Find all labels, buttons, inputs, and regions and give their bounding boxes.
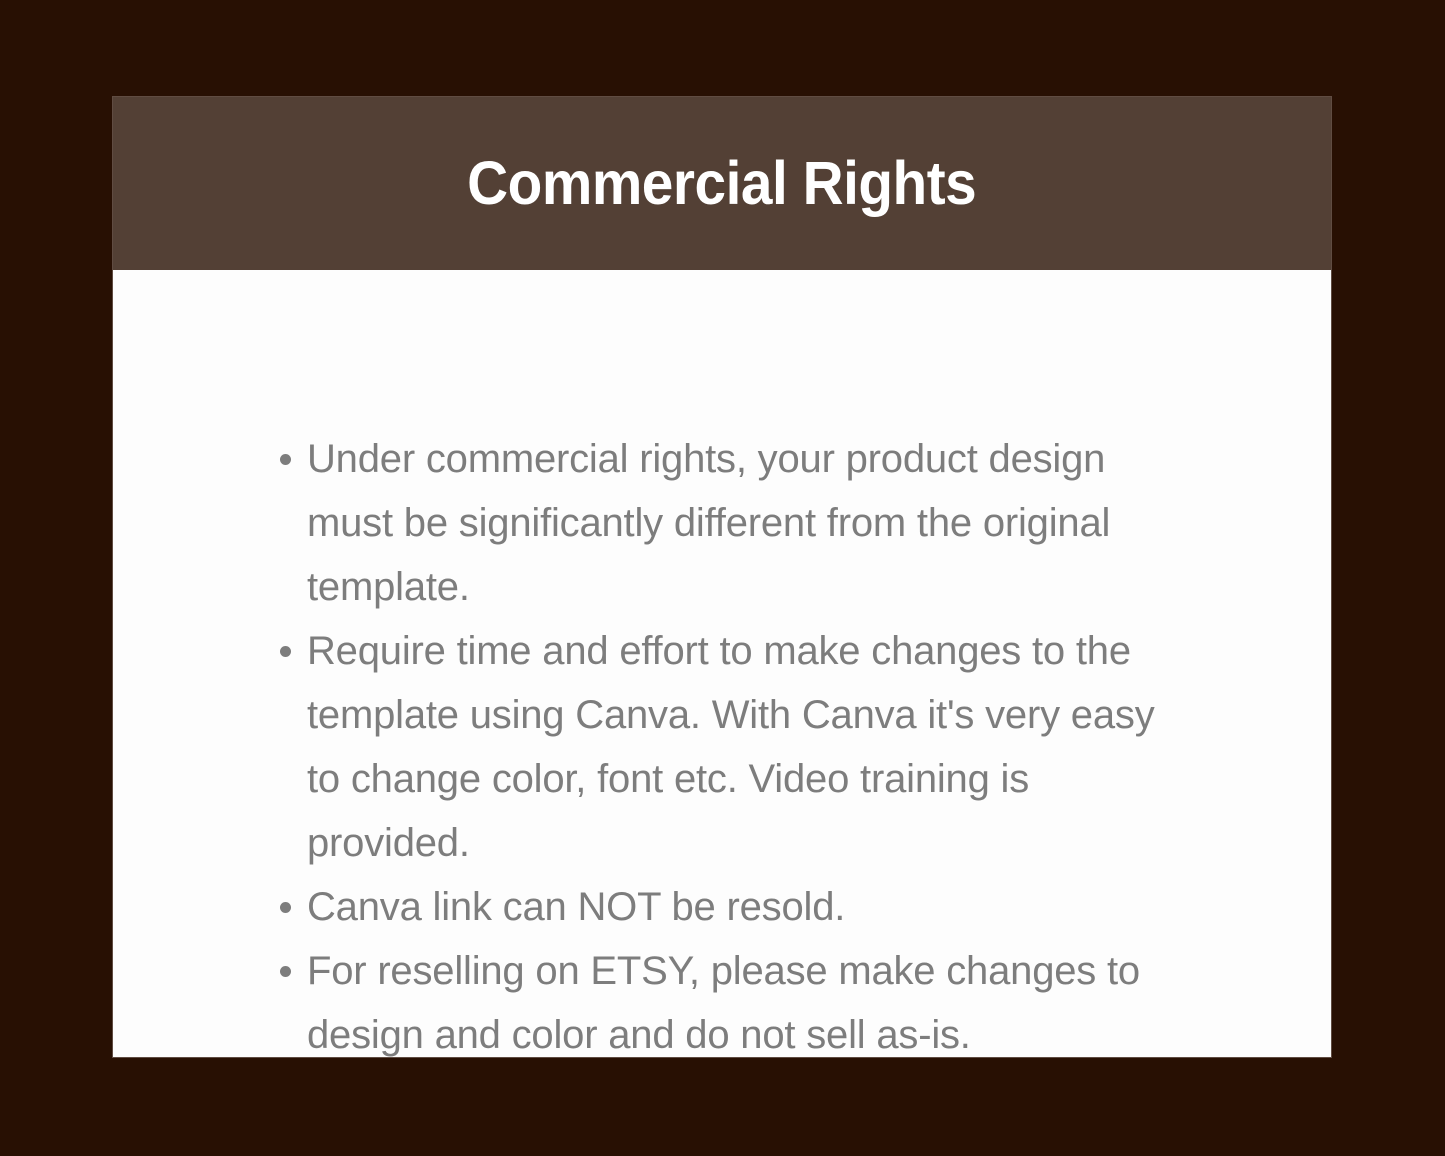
bullet-dot-icon [280, 966, 291, 977]
list-item-text: Canva link can NOT be resold. [307, 875, 1170, 939]
card-header: Commercial Rights [113, 97, 1331, 270]
list-item-text: Require time and effort to make changes … [307, 619, 1170, 875]
card-body: Under commercial rights, your product de… [113, 270, 1331, 1057]
list-item: Under commercial rights, your product de… [280, 427, 1170, 619]
bullet-dot-icon [280, 646, 291, 657]
list-item-text: Under commercial rights, your product de… [307, 427, 1170, 619]
slide-canvas: Commercial Rights Under commercial right… [0, 0, 1445, 1156]
content-card: Commercial Rights Under commercial right… [113, 97, 1331, 1057]
list-item-text: For reselling on ETSY, please make chang… [307, 939, 1170, 1057]
bullet-list: Under commercial rights, your product de… [280, 427, 1170, 1057]
bullet-dot-icon [280, 454, 291, 465]
list-item: For reselling on ETSY, please make chang… [280, 939, 1170, 1057]
list-item: Canva link can NOT be resold. [280, 875, 1170, 939]
page-title: Commercial Rights [467, 153, 976, 214]
bullet-dot-icon [280, 902, 291, 913]
list-item: Require time and effort to make changes … [280, 619, 1170, 875]
